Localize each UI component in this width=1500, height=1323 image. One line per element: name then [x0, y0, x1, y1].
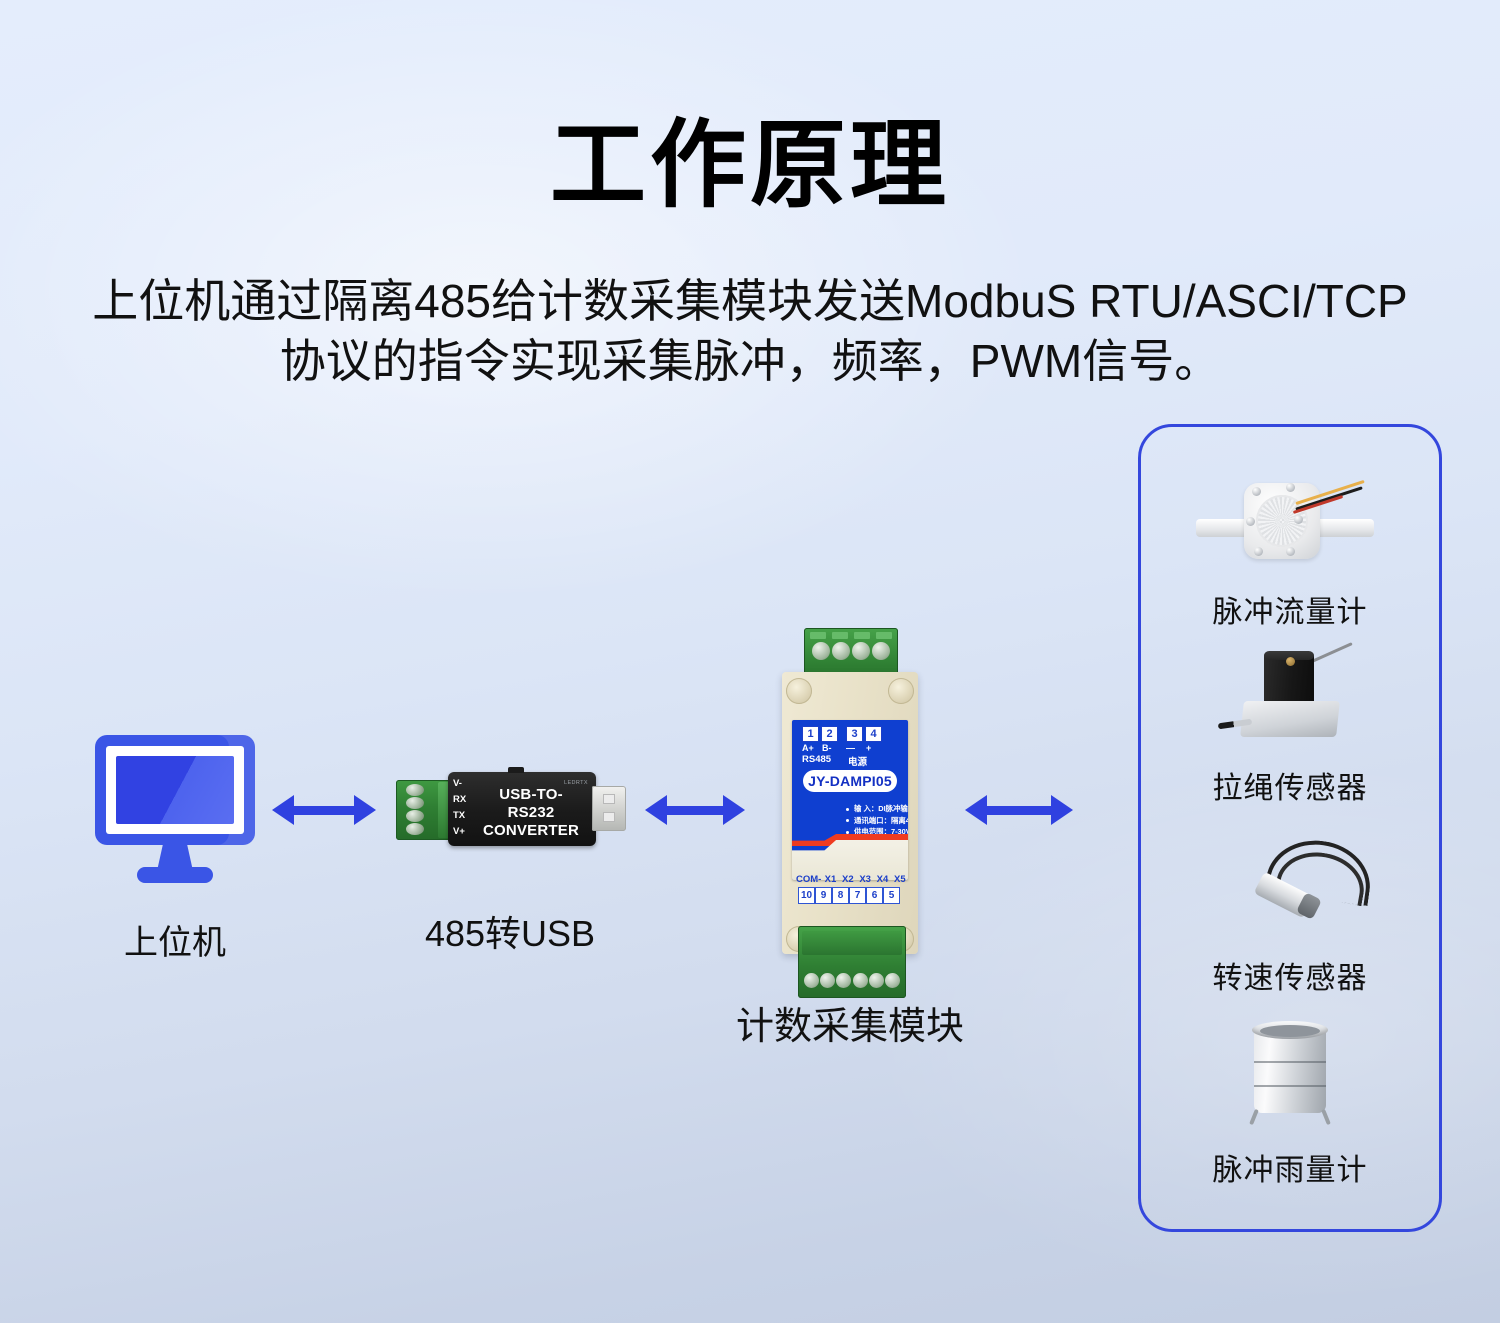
rain-gauge-leg: [1321, 1109, 1331, 1125]
module-feature-list: 输 入：DI脉冲输入 通讯端口：隔离485 供电范围：7-30V供电: [806, 803, 908, 838]
arrow-bar: [288, 806, 360, 815]
monitor-base: [137, 867, 213, 883]
flow-meter-bolt: [1286, 483, 1295, 492]
rain-gauge-inner: [1260, 1025, 1320, 1037]
arrow-head-right: [723, 795, 745, 825]
rain-gauge-band: [1254, 1085, 1326, 1087]
usb-plug-hole: [603, 794, 615, 804]
terminal-name: X5: [892, 874, 908, 885]
terminal-screw: [406, 823, 424, 835]
arrow-head-right: [1051, 795, 1073, 825]
arrow-bar: [661, 806, 729, 815]
monitor-screen: [116, 756, 234, 824]
sensor-label: 脉冲雨量计: [1141, 1145, 1439, 1189]
terminal-name: X4: [874, 874, 890, 885]
sensor-item-rain-gauge: 脉冲雨量计: [1141, 1017, 1439, 1189]
sensor-label: 转速传感器: [1141, 953, 1439, 997]
flow-meter-bolt: [1286, 547, 1295, 556]
terminal-screw: [832, 642, 850, 660]
terminal-screw: [872, 642, 890, 660]
terminal-number: 6: [866, 887, 883, 904]
sensor-item-speed: 转速传感器: [1141, 835, 1439, 997]
module-bottom-terminal: [798, 926, 906, 998]
usb-converter-device: LEDRTX V- RX TX V+ USB-TO-RS232 CONVERTE…: [396, 766, 626, 852]
arrow-host-to-converter: [272, 790, 376, 830]
terminal-number: 8: [832, 887, 849, 904]
pin-name: A+: [802, 743, 814, 753]
monitor-icon: [95, 735, 255, 885]
pin-number: 1: [802, 726, 819, 742]
rain-gauge-band: [1254, 1061, 1326, 1063]
pull-rope-base: [1240, 701, 1340, 737]
terminal-number: 10: [798, 887, 815, 904]
converter-nub: [508, 767, 524, 773]
rain-gauge-icon: [1190, 1017, 1390, 1137]
pin-name: +: [866, 743, 871, 753]
rain-gauge-body: [1254, 1027, 1326, 1113]
terminal-number: 9: [815, 887, 832, 904]
converter-pin-labels: V- RX TX V+: [453, 776, 475, 840]
flow-meter-bolt: [1252, 487, 1261, 496]
terminal-screw: [406, 810, 424, 822]
module-model-badge: JY-DAMPI05: [803, 770, 897, 792]
terminal-tab-row: [810, 632, 892, 639]
module-terminal-names: COM- X1 X2 X3 X4 X5: [792, 874, 908, 885]
converter-label: 485转USB: [370, 905, 650, 957]
converter-title-line2: CONVERTER: [476, 822, 586, 840]
speed-sensor-icon: [1190, 835, 1390, 945]
terminal-number: 7: [849, 887, 866, 904]
rain-gauge-leg: [1249, 1109, 1259, 1125]
sensor-item-pull-rope: 拉绳传感器: [1141, 645, 1439, 807]
pin-number: 4: [865, 726, 882, 742]
sensor-label: 拉绳传感器: [1141, 763, 1439, 807]
arrow-module-to-sensors: [965, 790, 1073, 830]
counting-module-device: 1 2 3 4 A+ B- — + RS485 电源 JY-DAMPI05 输 …: [760, 628, 940, 998]
usb-plug-hole: [603, 812, 615, 822]
flow-meter-bolt: [1294, 515, 1303, 524]
converter-pin-label: RX: [453, 792, 475, 808]
module-faceplate: 1 2 3 4 A+ B- — + RS485 电源 JY-DAMPI05 输 …: [792, 720, 908, 880]
terminal-screw: [852, 642, 870, 660]
usb-plug-icon: [592, 786, 626, 831]
pin-number: 2: [821, 726, 838, 742]
flow-meter-icon: [1190, 469, 1390, 579]
module-power-group-label: 电源: [848, 754, 867, 768]
converter-title-line1: USB-TO-RS232: [476, 786, 586, 822]
terminal-cap: [802, 931, 902, 955]
module-label: 计数采集模块: [690, 995, 1010, 1050]
pin-name: B-: [822, 743, 832, 753]
flow-meter-bolt: [1246, 517, 1255, 526]
module-mount-hole: [786, 678, 812, 704]
terminal-screw: [812, 642, 830, 660]
converter-pin-label: V-: [453, 776, 475, 792]
terminal-number: 5: [883, 887, 900, 904]
monitor-bezel: [106, 746, 244, 834]
module-mount-hole: [888, 678, 914, 704]
monitor-body: [95, 735, 255, 845]
module-bottom-terminal-labels: COM- X1 X2 X3 X4 X5 10 9 8 7 6 5: [792, 874, 908, 904]
module-terminal-numbers: 10 9 8 7 6 5: [792, 887, 908, 904]
terminal-screw-row: [804, 973, 900, 988]
page-subtitle: 上位机通过隔离485给计数采集模块发送ModbuS RTU/ASCI/TCP 协…: [50, 272, 1450, 392]
converter-pin-label: V+: [453, 824, 475, 840]
converter-pin-label: TX: [453, 808, 475, 824]
terminal-screw: [406, 784, 424, 796]
subtitle-line-1: 上位机通过隔离485给计数采集模块发送ModbuS RTU/ASCI/TCP: [50, 272, 1450, 332]
sensor-panel: 脉冲流量计 拉绳传感器 转速传感器 脉冲雨量计: [1138, 424, 1442, 1232]
terminal-name: X1: [822, 874, 838, 885]
arrow-bar: [981, 806, 1057, 815]
flow-meter-bolt: [1254, 547, 1263, 556]
module-top-pin-numbers: 1 2 3 4: [802, 726, 882, 742]
arrow-head-right: [354, 795, 376, 825]
sensor-item-flow-meter: 脉冲流量计: [1141, 469, 1439, 631]
terminal-name: X3: [857, 874, 873, 885]
terminal-screw: [406, 797, 424, 809]
subtitle-line-2: 协议的指令实现采集脉冲，频率，PWM信号。: [50, 332, 1450, 392]
terminal-name: COM-: [796, 874, 821, 885]
module-feature: 通讯端口：隔离485: [846, 815, 908, 827]
host-label: 上位机: [60, 915, 290, 964]
pin-name: —: [846, 743, 855, 753]
module-rs485-group-label: RS485: [802, 754, 831, 765]
arrow-converter-to-module: [645, 790, 745, 830]
sensor-label: 脉冲流量计: [1141, 587, 1439, 631]
converter-title: USB-TO-RS232 CONVERTER: [476, 786, 586, 840]
page-title: 工作原理: [0, 118, 1500, 214]
terminal-name: X2: [840, 874, 856, 885]
pull-rope-screw: [1286, 657, 1295, 666]
pull-rope-wire: [1311, 642, 1352, 663]
module-feature: 输 入：DI脉冲输入: [846, 803, 908, 815]
pin-number: 3: [846, 726, 863, 742]
pull-rope-sensor-icon: [1190, 645, 1390, 755]
